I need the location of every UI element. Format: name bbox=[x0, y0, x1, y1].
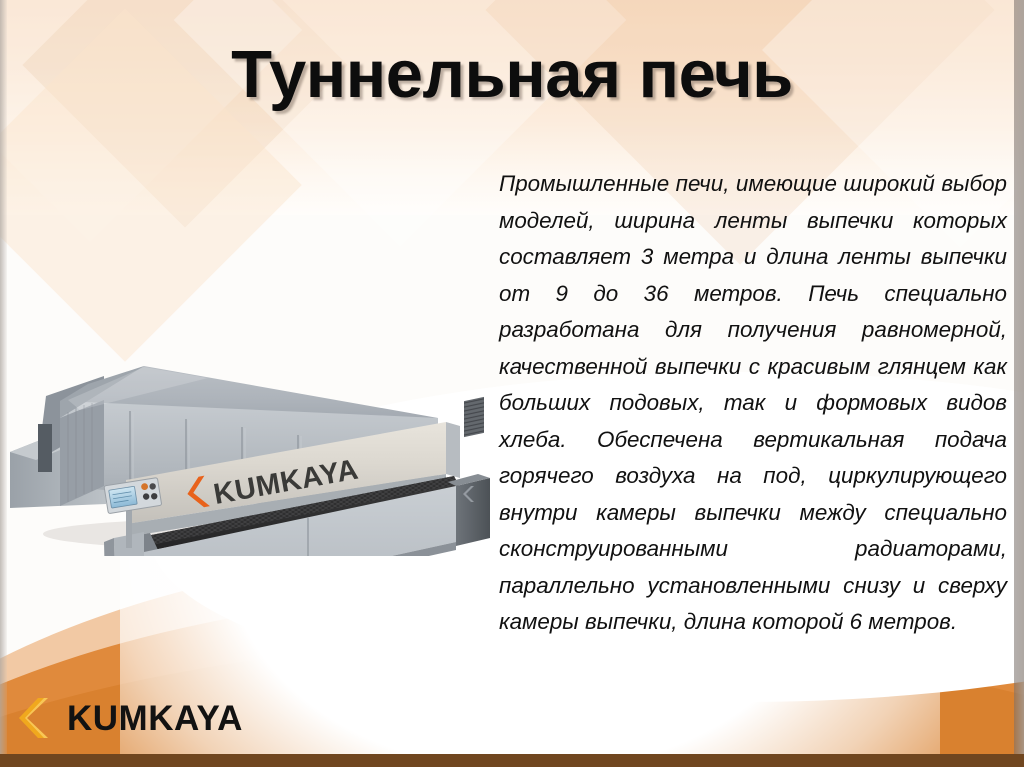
description-paragraph: Промышленные печи, имеющие широкий выбор… bbox=[499, 166, 1007, 641]
kumkaya-chevron-icon bbox=[18, 695, 60, 741]
oven-right-endcap bbox=[456, 478, 490, 546]
slide-frame-bottom bbox=[0, 754, 1024, 767]
tunnel-oven-image: KUMKAYA bbox=[8, 186, 498, 556]
footer-logo: KUMKAYA bbox=[18, 695, 243, 741]
slide-frame-right bbox=[1014, 0, 1024, 767]
page-title: Туннельная печь bbox=[0, 36, 1024, 113]
kumkaya-wordmark: KUMKAYA bbox=[67, 701, 243, 736]
oven-brand-hood-right-edge bbox=[446, 422, 460, 478]
tunnel-oven-illustration: KUMKAYA bbox=[8, 186, 498, 556]
slide-frame-left bbox=[0, 0, 7, 767]
slide-canvas: Туннельная печь bbox=[0, 0, 1024, 767]
oven-rear-fin bbox=[38, 424, 52, 472]
oven-right-endcap-vent bbox=[464, 397, 484, 437]
